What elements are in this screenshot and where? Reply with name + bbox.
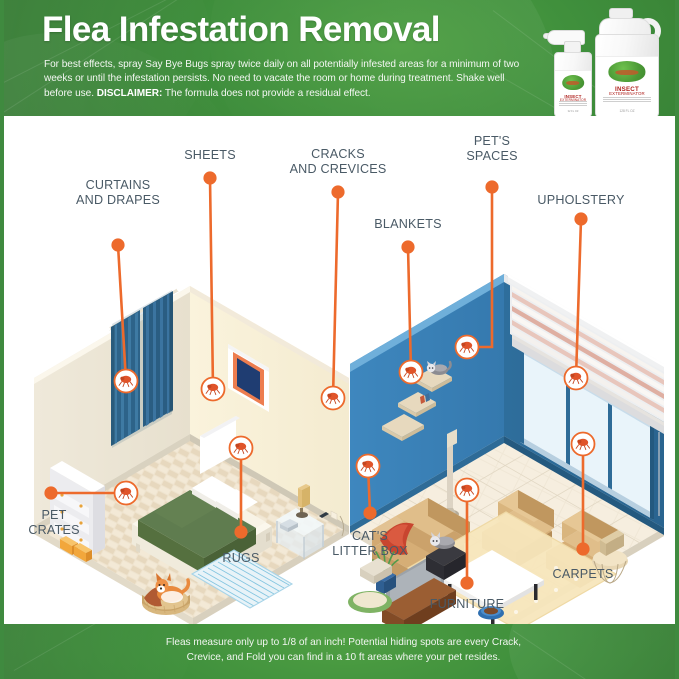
product-volume: 32 FL OZ — [555, 110, 591, 113]
flea-marker-pet-crates[interactable] — [115, 482, 138, 505]
label-fineprint-line — [603, 97, 650, 98]
flea-marker-cats-litter-box[interactable] — [357, 455, 380, 478]
label-upholstery: UPHOLSTERY — [537, 193, 624, 208]
flea-marker-curtains-and-drapes[interactable] — [115, 370, 138, 393]
header-disclaimer-label: DISCLAIMER: — [97, 88, 163, 99]
label-fineprint-line — [559, 101, 586, 102]
flea-marker-sheets[interactable] — [202, 378, 225, 401]
product-images: INSECT EXTERMINATOR 32 FL OZ I — [545, 2, 671, 116]
product-volume: 128 FL OZ — [596, 109, 658, 113]
leader-dot-furniture[interactable] — [460, 576, 473, 589]
flea-marker-rugs[interactable] — [230, 437, 253, 460]
leader-dot-sheets[interactable] — [203, 171, 216, 184]
product-spray-bottle: INSECT EXTERMINATOR 32 FL OZ — [551, 28, 595, 116]
footer-line-2: Crevice, and Fold you can find in a 10 f… — [4, 651, 679, 666]
brand-logo-icon — [562, 75, 584, 91]
flea-marker-pets-spaces[interactable] — [456, 336, 479, 359]
footer-text: Fleas measure only up to 1/8 of an inch!… — [4, 636, 679, 665]
footer-banner: Fleas measure only up to 1/8 of an inch!… — [4, 624, 679, 679]
jug-body: INSECT EXTERMINATOR 128 FL OZ — [595, 34, 659, 116]
footer-line-1: Fleas measure only up to 1/8 of an inch!… — [4, 636, 679, 651]
label-rugs: RUGS — [222, 551, 259, 566]
flea-marker-carpets[interactable] — [572, 433, 595, 456]
label-pet-crates: PET CRATES — [28, 508, 79, 538]
leader-dot-curtains-and-drapes[interactable] — [111, 238, 124, 251]
header-banner: Flea Infestation Removal For best effect… — [4, 0, 679, 116]
label-fineprint-line — [603, 99, 650, 100]
label-fineprint-line — [603, 101, 650, 102]
leader-dot-cats-litter-box[interactable] — [363, 506, 376, 519]
product-subtitle: EXTERMINATOR — [596, 91, 658, 96]
bottle-label: INSECT EXTERMINATOR 32 FL OZ — [555, 70, 591, 116]
page-title: Flea Infestation Removal — [42, 12, 440, 47]
label-cats-litter-box: CAT'S LITTER BOX — [332, 529, 407, 559]
flea-marker-cracks-and-crevices[interactable] — [322, 387, 345, 410]
flea-marker-upholstery[interactable] — [565, 367, 588, 390]
label-furniture: FURNITURE — [430, 597, 505, 612]
header-description: For best effects, spray Say Bye Bugs spr… — [44, 58, 534, 101]
header-description-part2: The formula does not provide a residual … — [162, 88, 370, 99]
label-cracks-and-crevices: CRACKS AND CREVICES — [290, 147, 387, 177]
flea-marker-furniture[interactable] — [456, 479, 479, 502]
label-carpets: CARPETS — [553, 567, 614, 582]
bottle-body: INSECT EXTERMINATOR 32 FL OZ — [554, 52, 592, 116]
brand-logo-icon — [608, 61, 645, 81]
infographic-page: Flea Infestation Removal For best effect… — [0, 0, 679, 679]
leader-dot-upholstery[interactable] — [574, 212, 587, 225]
label-fineprint-line — [559, 103, 586, 104]
leader-dot-pet-crates[interactable] — [44, 486, 57, 499]
product-gallon-jug: INSECT EXTERMINATOR 128 FL OZ — [593, 8, 665, 116]
label-fineprint-line — [559, 105, 586, 106]
leader-dot-cracks-and-crevices[interactable] — [331, 185, 344, 198]
leader-dot-carpets[interactable] — [576, 542, 589, 555]
label-blankets: BLANKETS — [374, 217, 441, 232]
label-curtains-and-drapes: CURTAINS AND DRAPES — [76, 178, 160, 208]
label-sheets: SHEETS — [184, 148, 236, 163]
jug-label: INSECT EXTERMINATOR 128 FL OZ — [596, 56, 658, 116]
leader-dot-blankets[interactable] — [401, 240, 414, 253]
leader-dot-pets-spaces[interactable] — [485, 180, 498, 193]
leader-line-cracks-and-crevices — [333, 192, 338, 398]
flea-marker-blankets[interactable] — [400, 361, 423, 384]
label-pets-spaces: PET'S SPACES — [466, 134, 517, 164]
leader-dot-rugs[interactable] — [234, 525, 247, 538]
